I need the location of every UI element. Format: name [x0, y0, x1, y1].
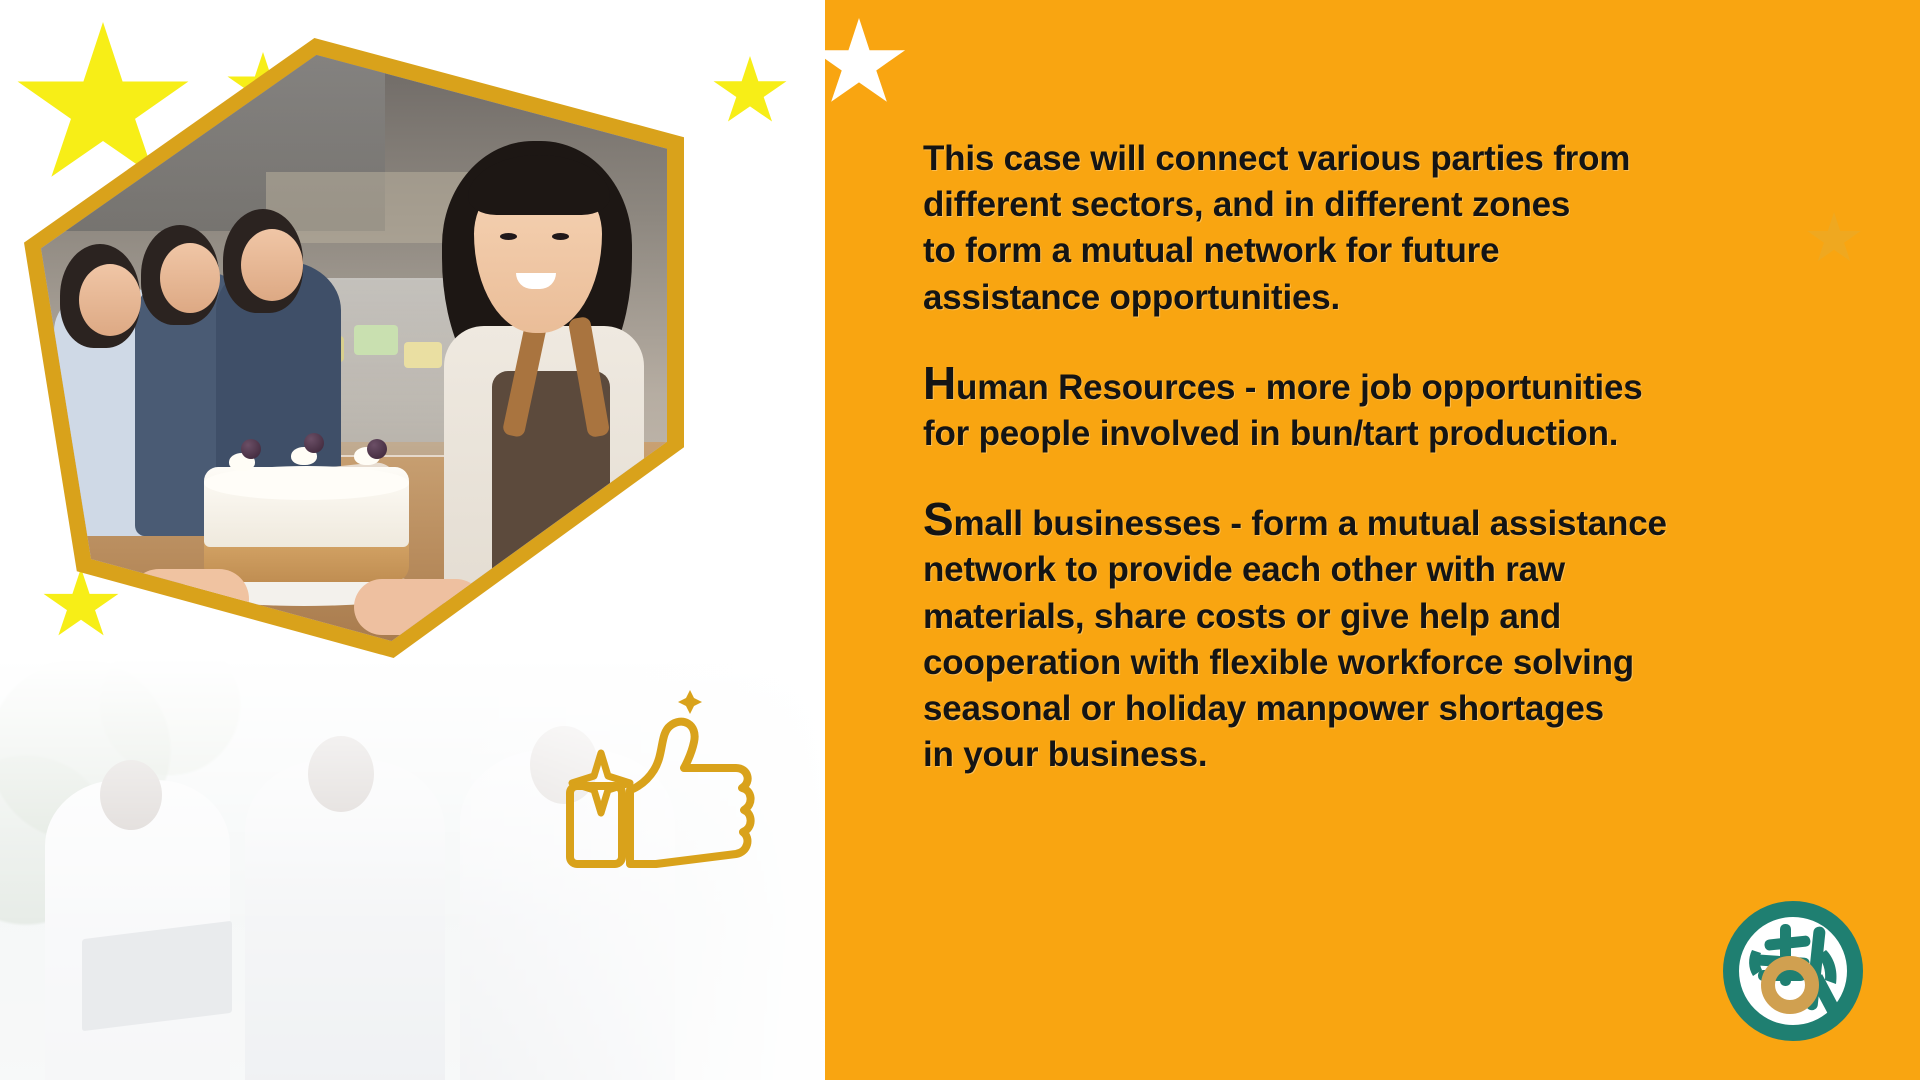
main-woman-eye-left [500, 233, 517, 240]
scene-pastry-2 [354, 325, 398, 355]
star-white-top [825, 18, 907, 110]
paragraph-intro: This case will connect various parties f… [923, 136, 1843, 321]
sb-dropcap: S [923, 493, 953, 545]
intro-line-3: to form a mutual network for future [923, 228, 1843, 274]
intro-line-4: assistance opportunities. [923, 275, 1843, 321]
bakery-scene [41, 55, 667, 641]
sb-line-4: cooperation with flexible workforce solv… [923, 640, 1843, 686]
sb-line-1: Small businesses - form a mutual assista… [923, 501, 1843, 547]
intro-line-1: This case will connect various parties f… [923, 136, 1843, 182]
hr-line-1-text: uman Resources - more job opportunities [956, 368, 1642, 407]
hr-line-1: Human Resources - more job opportunities [923, 365, 1843, 411]
left-image-panel [0, 0, 825, 1080]
hexagon-photo [41, 55, 667, 641]
scene-face-2 [160, 243, 220, 313]
scene-face-3 [241, 229, 303, 301]
hr-line-2: for people involved in bun/tart producti… [923, 411, 1843, 457]
thumbs-up-icon [560, 690, 770, 890]
hexagon-photo-frame [24, 38, 684, 658]
sb-line-1-text: mall businesses - form a mutual assistan… [953, 504, 1666, 543]
intro-line-2: different sectors, and in different zone… [923, 182, 1843, 228]
slide-canvas: This case will connect various parties f… [0, 0, 1920, 1080]
cake-berry-3 [367, 439, 387, 459]
hr-dropcap: H [923, 357, 956, 409]
star-tiny-yellow [712, 56, 788, 128]
scene-main-woman [430, 121, 667, 641]
scene-face-1 [79, 264, 141, 336]
sb-line-5: seasonal or holiday manpower shortages [923, 686, 1843, 732]
paragraph-small-businesses: Small businesses - form a mutual assista… [923, 501, 1843, 778]
ok-circular-logo [1722, 900, 1864, 1042]
sb-line-6: in your business. [923, 732, 1843, 778]
main-woman-eye-right [552, 233, 569, 240]
sb-line-3: materials, share costs or give help and [923, 594, 1843, 640]
paragraph-human-resources: Human Resources - more job opportunities… [923, 365, 1843, 457]
body-text-block: This case will connect various parties f… [923, 136, 1843, 778]
right-text-panel: This case will connect various parties f… [825, 0, 1920, 1080]
sb-line-2: network to provide each other with raw [923, 547, 1843, 593]
